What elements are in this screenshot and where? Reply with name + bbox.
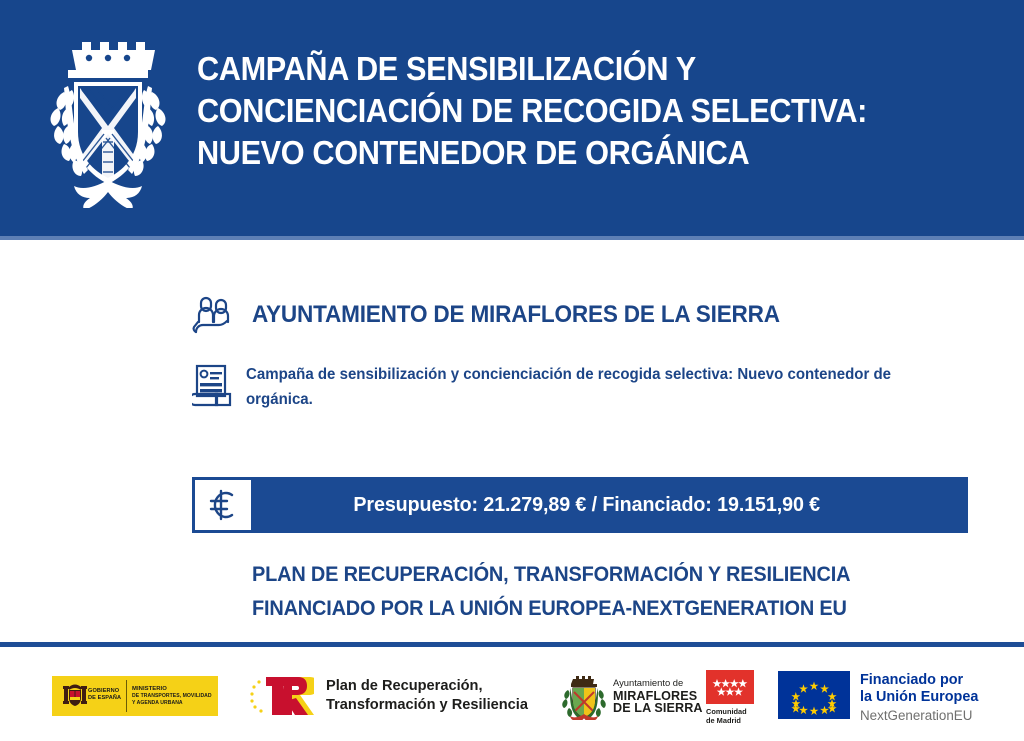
entity-name: AYUNTAMIENTO DE MIRAFLORES DE LA SIERRA	[252, 301, 780, 329]
entity-row: AYUNTAMIENTO DE MIRAFLORES DE LA SIERRA	[192, 292, 814, 338]
ministerio-line-2: DE TRANSPORTES, MOVILIDAD	[132, 693, 212, 699]
comunidad-madrid-line-2: de Madrid	[706, 716, 762, 725]
spain-coat-of-arms-icon	[60, 681, 90, 711]
comunidad-madrid-line-1: Comunidad	[706, 707, 762, 716]
gobierno-line-1: GOBIERNO	[88, 688, 119, 694]
eu-line-3: NextGenerationEU	[860, 707, 978, 724]
prtr-label: Plan de Recuperación, Transformación y R…	[326, 677, 528, 715]
ministerio-line-3: Y AGENDA URBANA	[132, 700, 183, 706]
prtr-line-2: Transformación y Resiliencia	[326, 696, 528, 715]
comunidad-madrid-label: Comunidad de Madrid	[706, 707, 762, 725]
eu-line-2: la Unión Europea	[860, 689, 978, 706]
gobierno-line-2: DE ESPAÑA	[88, 695, 121, 701]
page-title-line-3: NUEVO CONTENEDOR DE ORGÁNICA	[197, 132, 932, 174]
page-title-line-2: CONCIENCIACIÓN DE RECOGIDA SELECTIVA:	[197, 90, 932, 132]
eu-funding-label: Financiado por la Unión Europea NextGene…	[860, 671, 978, 724]
miraflores-line-3: DE LA SIERRA	[613, 702, 703, 715]
ayuntamiento-miraflores-logo: Ayuntamiento de MIRAFLORES DE LA SIERRA	[562, 670, 694, 722]
people-in-hand-icon	[192, 292, 238, 338]
plan-statement: PLAN DE RECUPERACIÓN, TRANSFORMACIÓN Y R…	[252, 558, 850, 626]
main-content: AYUNTAMIENTO DE MIRAFLORES DE LA SIERRA …	[0, 240, 1024, 643]
miraflores-label: Ayuntamiento de MIRAFLORES DE LA SIERRA	[613, 677, 703, 715]
plan-statement-line-1: PLAN DE RECUPERACIÓN, TRANSFORMACIÓN Y R…	[252, 558, 850, 592]
gobierno-de-espana-logo: GOBIERNO DE ESPAÑA MINISTERIO DE TRANSPO…	[52, 676, 218, 716]
header-banner: CAMPAÑA DE SENSIBILIZACIÓN Y CONCIENCIAC…	[0, 0, 1024, 236]
eu-line-1: Financiado por	[860, 672, 978, 689]
page-title: CAMPAÑA DE SENSIBILIZACIÓN Y CONCIENCIAC…	[197, 48, 932, 174]
ministerio-label: MINISTERIO DE TRANSPORTES, MOVILIDAD Y A…	[132, 686, 212, 708]
ministerio-line-1: MINISTERIO	[132, 686, 167, 692]
document-icon	[192, 364, 234, 408]
comunidad-de-madrid-logo: Comunidad de Madrid	[706, 670, 762, 724]
page-title-line-1: CAMPAÑA DE SENSIBILIZACIÓN Y	[197, 48, 932, 90]
gobierno-label: GOBIERNO DE ESPAÑA	[88, 688, 121, 702]
description-row: Campaña de sensibilización y concienciac…	[192, 362, 952, 412]
prtr-logo: Plan de Recuperación, Transformación y R…	[248, 672, 544, 720]
prtr-line-1: Plan de Recuperación,	[326, 677, 528, 696]
budget-text: Presupuesto: 21.279,89 € / Financiado: 1…	[208, 493, 953, 517]
miraflores-line-1: Ayuntamiento de	[613, 677, 703, 690]
plan-statement-line-2: FINANCIADO POR LA UNIÓN EUROPEA-NEXTGENE…	[252, 592, 850, 626]
miraflores-crest-color-icon	[562, 672, 606, 720]
description-text: Campaña de sensibilización y concienciac…	[246, 362, 925, 412]
madrid-stars-icon	[706, 670, 754, 704]
budget-bar: Presupuesto: 21.279,89 € / Financiado: 1…	[192, 477, 968, 533]
logo-separator	[126, 680, 127, 712]
miraflores-crest-icon	[42, 30, 174, 208]
poster-root: CAMPAÑA DE SENSIBILIZACIÓN Y CONCIENCIAC…	[0, 0, 1024, 741]
eu-funding-logo: Financiado por la Unión Europea NextGene…	[778, 671, 978, 721]
prtr-tr-monogram-icon	[248, 673, 314, 719]
eu-flag-icon	[778, 671, 850, 719]
